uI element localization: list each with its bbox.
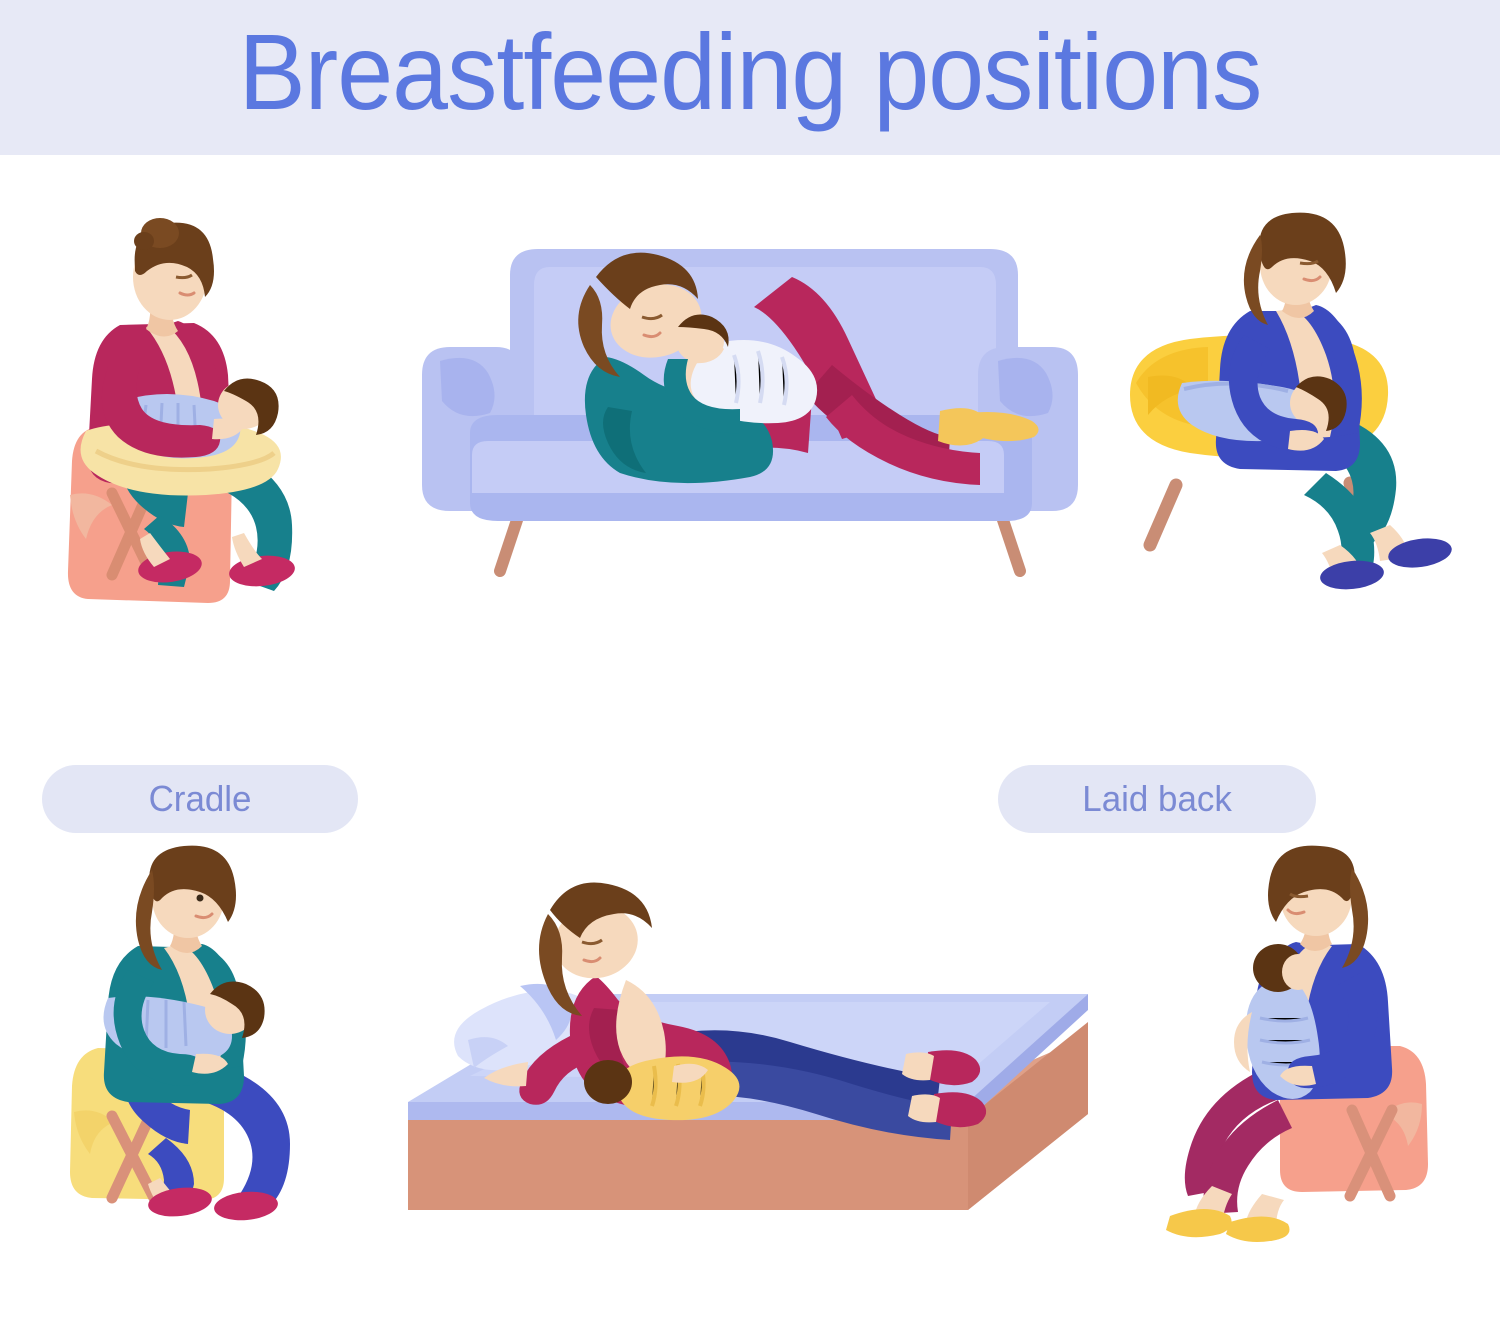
page-title: Breastfeeding positions <box>53 12 1448 132</box>
position-card-australian-hold[interactable]: Australian hold <box>1100 810 1500 1338</box>
cradle-illustration <box>0 215 400 615</box>
position-card-cross-cradle[interactable]: Cross-cradle <box>0 810 400 1338</box>
australian-hold-illustration <box>1100 850 1500 1250</box>
positions-row-bottom: Cross-cradle <box>0 810 1500 1338</box>
infographic-page: Breastfeeding positions <box>0 0 1500 1338</box>
baby-face-icon <box>1282 954 1314 990</box>
baby-head-icon <box>584 1060 632 1104</box>
position-card-side-lying[interactable]: Side-lying <box>400 810 1100 1338</box>
position-card-cradle[interactable]: Cradle <box>0 155 400 680</box>
shoe-right-icon <box>1226 1216 1290 1242</box>
laid-back-illustration <box>400 215 1100 615</box>
cross-cradle-illustration <box>0 850 400 1250</box>
positions-row-top: Cradle <box>0 155 1500 680</box>
position-card-football-hold[interactable]: Football hold <box>1100 155 1500 680</box>
position-card-laid-back[interactable]: Laid back <box>400 155 1100 680</box>
side-lying-illustration <box>400 850 1100 1250</box>
football-hold-illustration <box>1100 215 1500 615</box>
shoe-left-icon <box>1166 1209 1232 1237</box>
